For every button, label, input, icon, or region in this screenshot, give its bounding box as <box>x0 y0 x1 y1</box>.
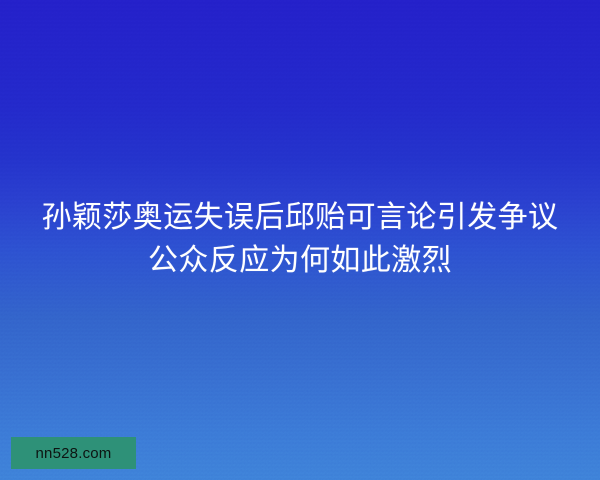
poster-canvas: 孙颖莎奥运失误后邱贻可言论引发争议 公众反应为何如此激烈 nn528.com <box>0 0 600 480</box>
headline-title: 孙颖莎奥运失误后邱贻可言论引发争议 公众反应为何如此激烈 <box>0 196 600 282</box>
headline-line-2: 公众反应为何如此激烈 <box>0 239 600 282</box>
headline-line-1: 孙颖莎奥运失误后邱贻可言论引发争议 <box>0 196 600 239</box>
watermark-label: nn528.com <box>35 446 111 461</box>
watermark-badge: nn528.com <box>11 437 136 469</box>
